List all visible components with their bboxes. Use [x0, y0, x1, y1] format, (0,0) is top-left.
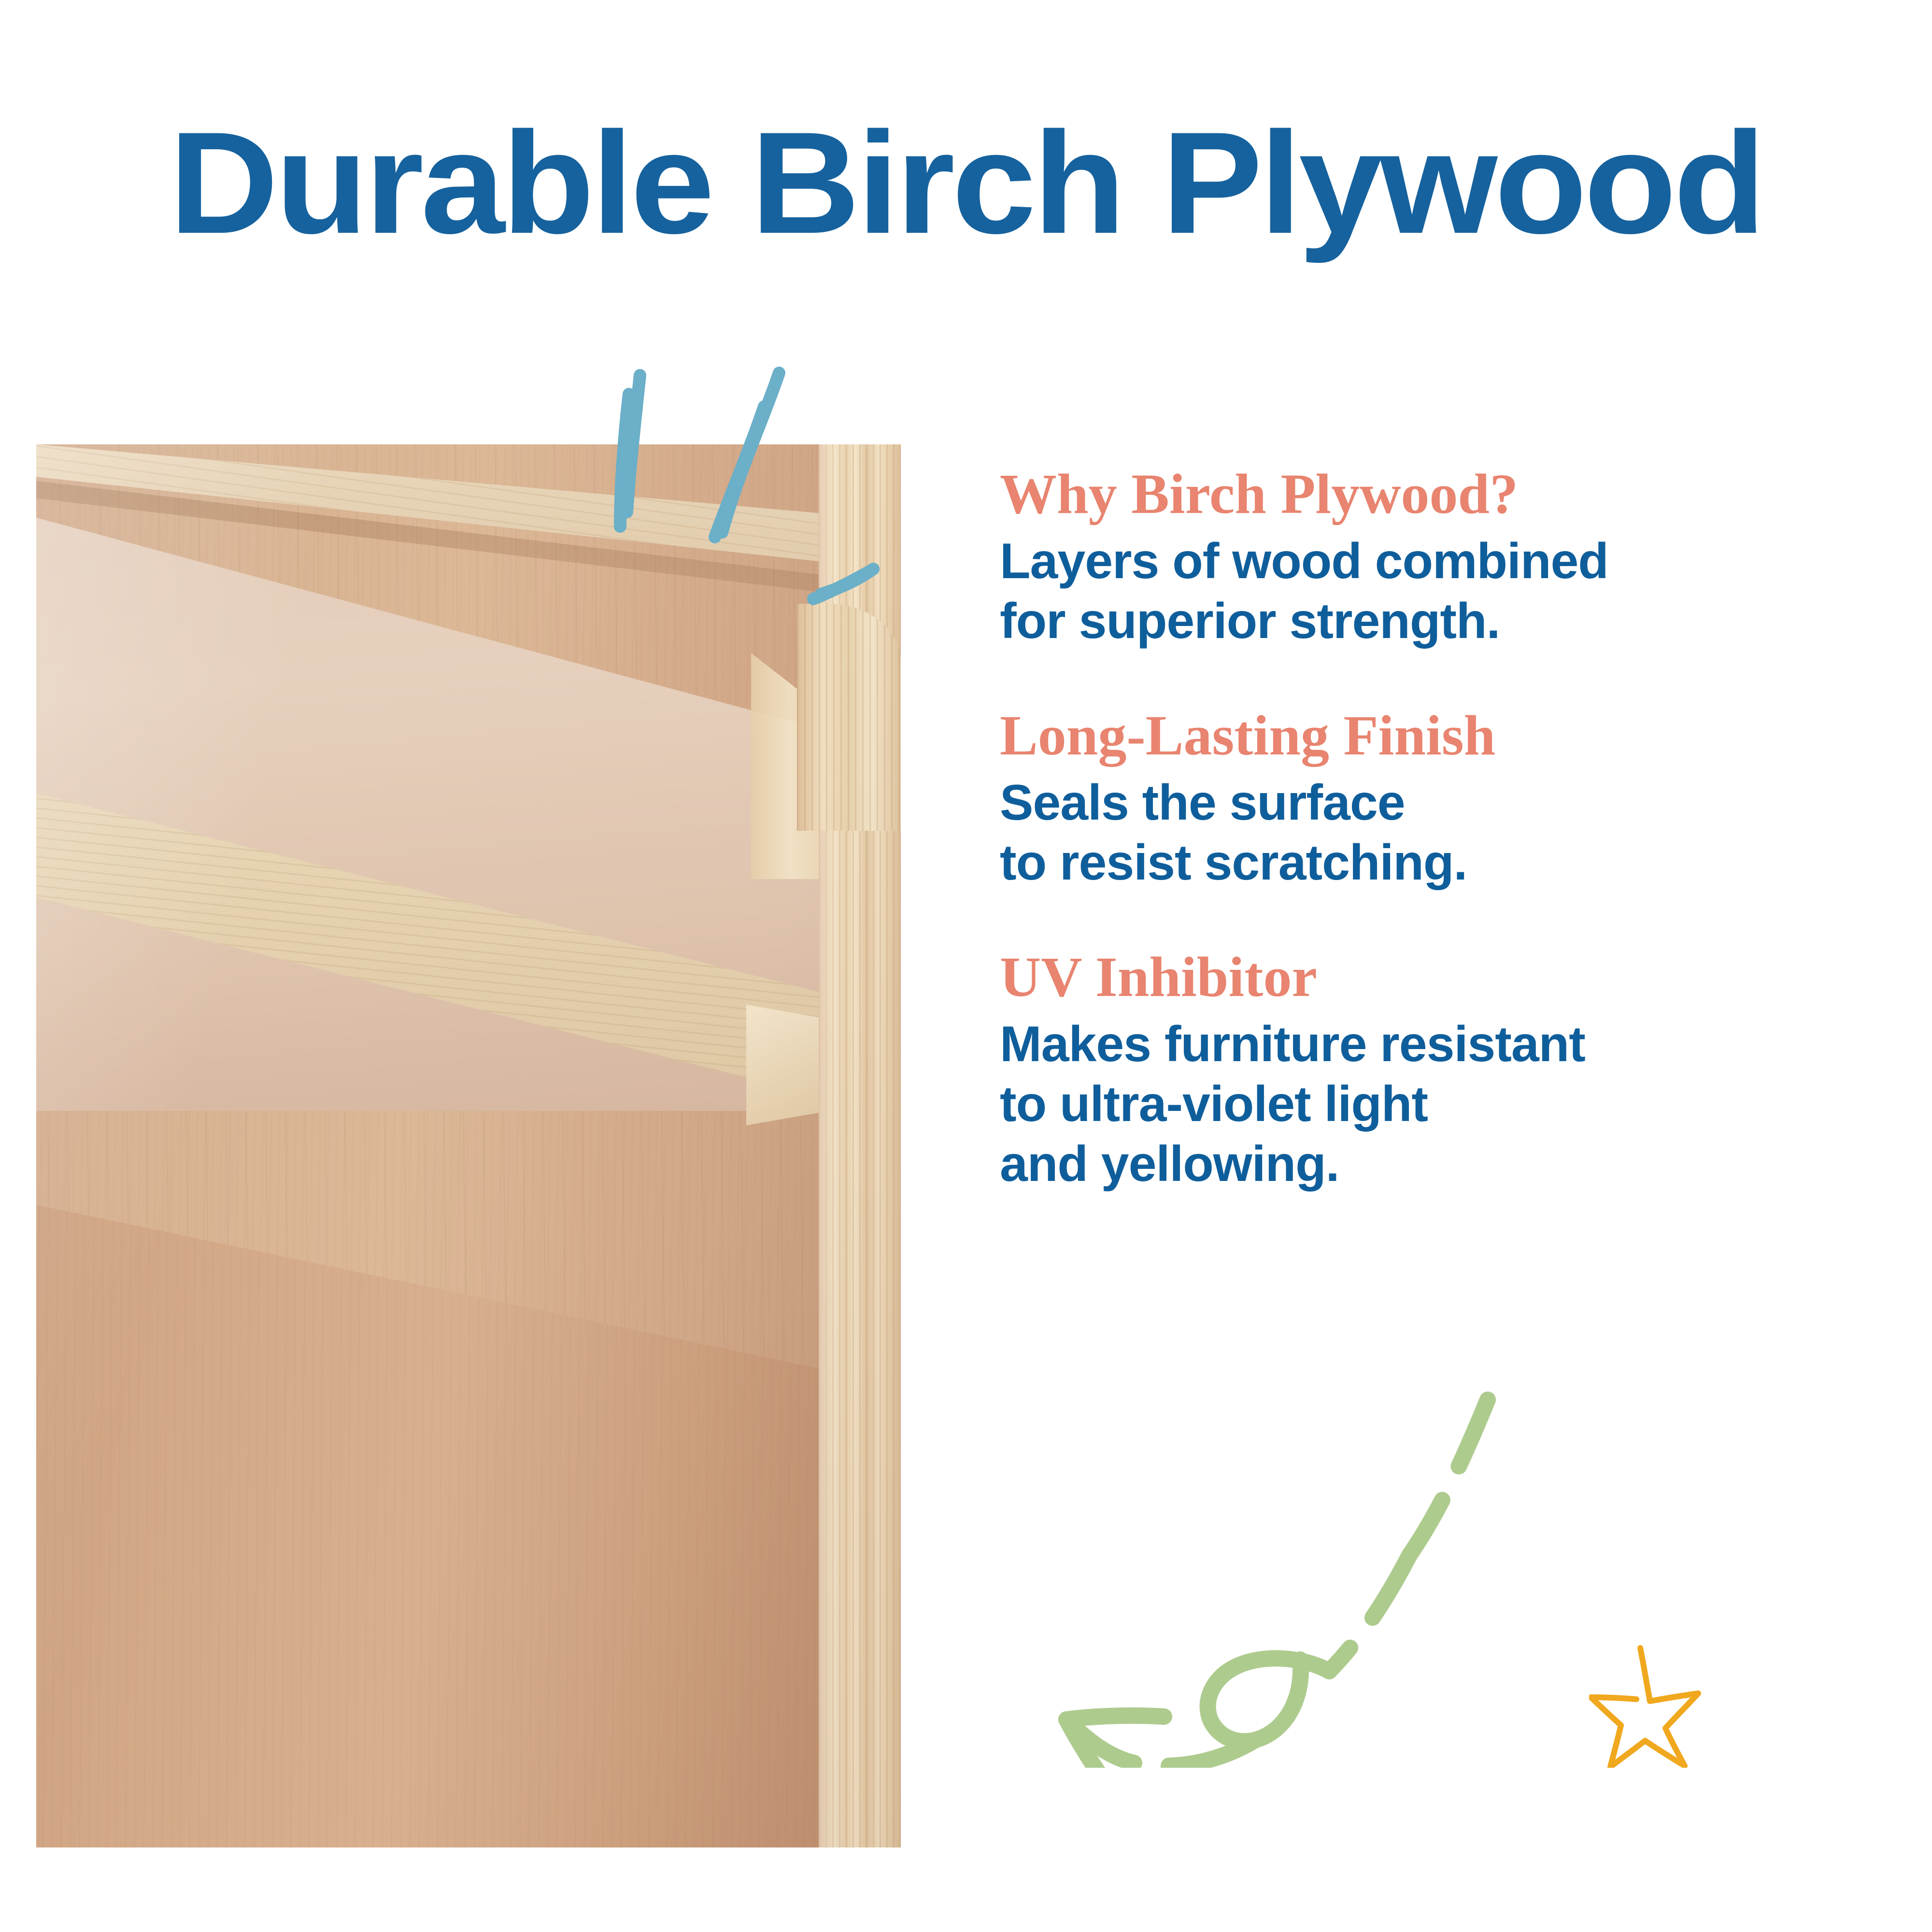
feature-block-why-birch-plywood: Why Birch Plywood? Layers of wood combin… — [1000, 464, 1893, 651]
feature-body-line: for superior strength. — [1000, 591, 1893, 651]
feature-block-long-lasting-finish: Long-Lasting Finish Seals the surface to… — [1000, 705, 1893, 893]
page-title: Durable Birch Plywood — [0, 110, 1932, 255]
feature-body-line: Seals the surface — [1000, 773, 1893, 833]
feature-block-uv-inhibitor: UV Inhibitor Makes furniture resistant t… — [1000, 947, 1893, 1194]
curved-dashed-arrow-icon — [1005, 1381, 1575, 1768]
feature-heading: Why Birch Plywood? — [1000, 464, 1893, 525]
sparkle-lines-icon — [570, 353, 898, 613]
feature-heading: Long-Lasting Finish — [1000, 705, 1893, 766]
feature-body-line: and yellowing. — [1000, 1134, 1893, 1194]
feature-body-line: Layers of wood combined — [1000, 531, 1893, 591]
feature-body: Makes furniture resistant to ultra-viole… — [1000, 1014, 1893, 1194]
feature-body: Layers of wood combined for superior str… — [1000, 531, 1893, 651]
feature-body-line: to resist scratching. — [1000, 833, 1893, 893]
product-photo — [36, 444, 901, 1847]
hand-drawn-star-icon — [1589, 1637, 1719, 1768]
plywood-rounded-corner — [797, 604, 901, 831]
feature-body-line: Makes furniture resistant — [1000, 1014, 1893, 1074]
feature-body-line: to ultra-violet light — [1000, 1074, 1893, 1134]
infographic-canvas: Durable Birch Plywood — [0, 0, 1932, 1932]
feature-heading: UV Inhibitor — [1000, 947, 1893, 1008]
feature-body: Seals the surface to resist scratching. — [1000, 773, 1893, 893]
feature-list: Why Birch Plywood? Layers of wood combin… — [1000, 464, 1893, 1194]
